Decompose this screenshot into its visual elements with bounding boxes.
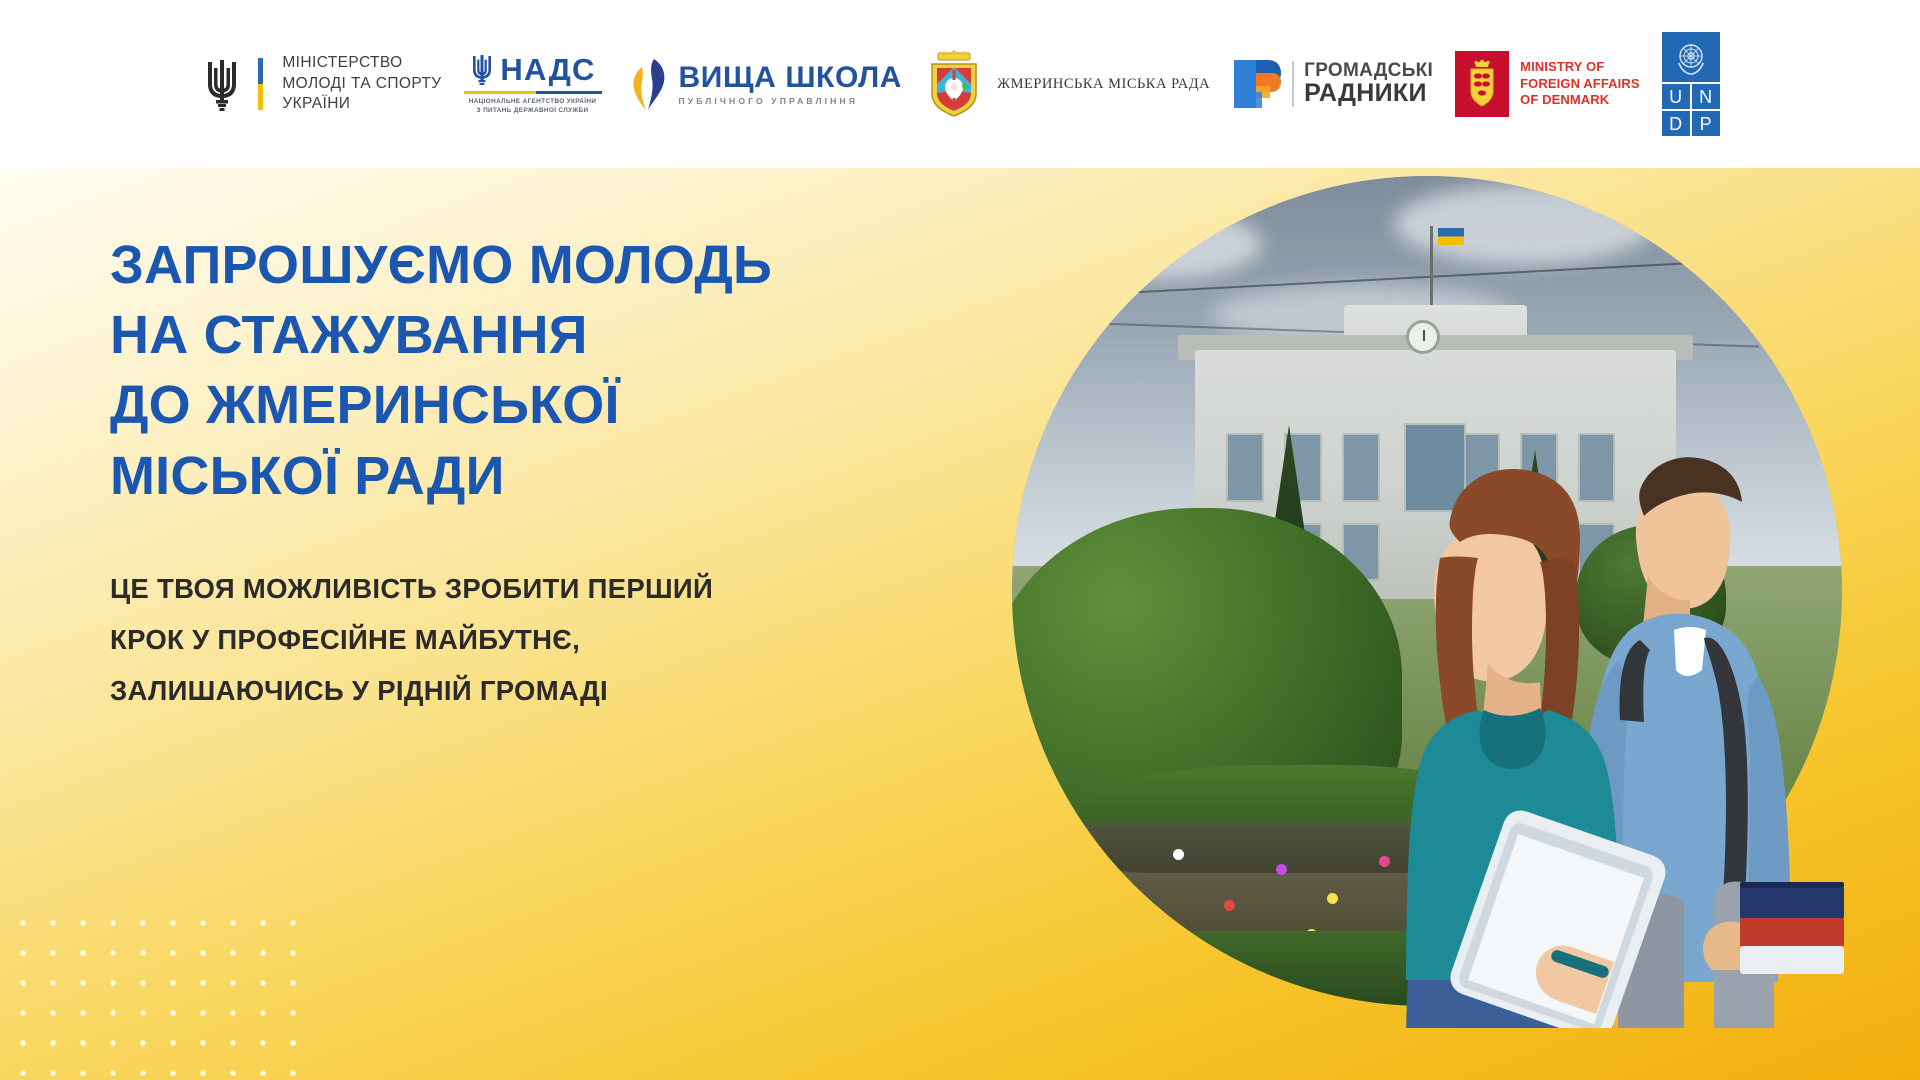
hero-section: ЗАПРОШУЄМО МОЛОДЬ НА СТАЖУВАННЯ ДО ЖМЕРИ…	[0, 168, 1920, 1080]
logo-public-advisors: ГРОМАДСЬКІ РАДНИКИ	[1232, 58, 1433, 110]
nads-rule	[464, 91, 602, 94]
denmark-line-3: OF DENMARK	[1520, 92, 1639, 108]
ukraine-flag-icon	[1438, 228, 1464, 245]
higher-school-subtitle: ПУБЛІЧНОГО УПРАВЛІННЯ	[679, 96, 903, 106]
zhmerynka-city-council-label: ЖМЕРИНСЬКА МІСЬКА РАДА	[997, 76, 1210, 93]
page-title: ЗАПРОШУЄМО МОЛОДЬ НА СТАЖУВАННЯ ДО ЖМЕРИ…	[110, 230, 1010, 511]
hero-photo	[1012, 176, 1842, 1006]
subhead-line-3: ЗАЛИШАЮЧИСЬ У РІДНІЙ ГРОМАДІ	[110, 665, 1010, 716]
ukraine-tryzub-icon	[200, 56, 244, 112]
divider	[1292, 61, 1294, 107]
hero-text-block: ЗАПРОШУЄМО МОЛОДЬ НА СТАЖУВАННЯ ДО ЖМЕРИ…	[110, 230, 1010, 716]
partner-logo-bar: МІНІСТЕРСТВО МОЛОДІ ТА СПОРТУ УКРАЇНИ	[0, 0, 1920, 168]
undp-letter-p: P	[1692, 111, 1720, 136]
flag-divider	[258, 58, 263, 110]
ministry-line-1: МІНІСТЕРСТВО	[282, 53, 441, 74]
public-advisors-line-2: РАДНИКИ	[1304, 81, 1433, 107]
un-emblem-icon	[1662, 32, 1720, 82]
logo-undp: U N D P	[1662, 32, 1720, 136]
denmark-crest-icon	[1455, 51, 1509, 117]
logo-zhmerynka-city-council: ЖМЕРИНСЬКА МІСЬКА РАДА	[924, 50, 1210, 118]
nads-subtitle-line-2: З ПИТАНЬ ДЕРЖАВНОЇ СЛУЖБИ	[469, 106, 597, 115]
ukraine-tryzub-icon	[469, 53, 495, 87]
logo-ministry-of-youth-and-sport: МІНІСТЕРСТВО МОЛОДІ ТА СПОРТУ УКРАЇНИ	[200, 53, 441, 115]
public-advisors-line-1: ГРОМАДСЬКІ	[1304, 61, 1433, 81]
cloud	[1062, 209, 1262, 279]
ministry-line-3: УКРАЇНИ	[282, 94, 441, 115]
logo-denmark-mfa: MINISTRY OF FOREIGN AFFAIRS OF DENMARK	[1455, 51, 1639, 117]
nads-subtitle-line-1: НАЦІОНАЛЬНЕ АГЕНТСТВО УКРАЇНИ	[469, 97, 597, 106]
denmark-line-2: FOREIGN AFFAIRS	[1520, 76, 1639, 92]
denmark-line-1: MINISTRY OF	[1520, 59, 1639, 75]
undp-letter-n: N	[1692, 84, 1720, 109]
promotional-banner: МІНІСТЕРСТВО МОЛОДІ ТА СПОРТУ УКРАЇНИ	[0, 0, 1920, 1080]
zhmerynka-coat-of-arms-icon	[924, 50, 984, 118]
subhead-line-2: КРОК У ПРОФЕСІЙНЕ МАЙБУТНЄ,	[110, 614, 1010, 665]
headline-line-4: МІСЬКОЇ РАДИ	[110, 441, 1010, 511]
subheading: ЦЕ ТВОЯ МОЖЛИВІСТЬ ЗРОБИТИ ПЕРШИЙ КРОК У…	[110, 563, 1010, 716]
headline-line-1: ЗАПРОШУЄМО МОЛОДЬ	[110, 230, 1010, 300]
decorative-dot-pattern	[0, 900, 300, 1080]
headline-line-3: ДО ЖМЕРИНСЬКОЇ	[110, 370, 1010, 440]
higher-school-title: ВИЩА ШКОЛА	[679, 63, 903, 93]
nads-subtitle: НАЦІОНАЛЬНЕ АГЕНТСТВО УКРАЇНИ З ПИТАНЬ Д…	[469, 97, 597, 116]
undp-letters: U N D P	[1662, 84, 1720, 136]
undp-letter-d: D	[1662, 111, 1690, 136]
ministry-of-youth-label: МІНІСТЕРСТВО МОЛОДІ ТА СПОРТУ УКРАЇНИ	[282, 53, 441, 115]
logo-higher-school: ВИЩА ШКОЛА ПУБЛІЧНОГО УПРАВЛІННЯ	[624, 57, 903, 111]
letter-p-mark-icon	[1232, 58, 1282, 110]
denmark-mfa-label: MINISTRY OF FOREIGN AFFAIRS OF DENMARK	[1520, 59, 1639, 108]
nads-wordmark: НАДС	[500, 54, 595, 85]
chevron-mark-icon	[624, 57, 670, 111]
logo-nads: НАДС НАЦІОНАЛЬНЕ АГЕНТСТВО УКРАЇНИ З ПИТ…	[464, 53, 602, 116]
headline-line-2: НА СТАЖУВАННЯ	[110, 300, 1010, 370]
undp-letter-u: U	[1662, 84, 1690, 109]
ministry-line-2: МОЛОДІ ТА СПОРТУ	[282, 74, 441, 95]
subhead-line-1: ЦЕ ТВОЯ МОЖЛИВІСТЬ ЗРОБИТИ ПЕРШИЙ	[110, 563, 1010, 614]
students-photo-subject	[1288, 258, 1848, 1028]
